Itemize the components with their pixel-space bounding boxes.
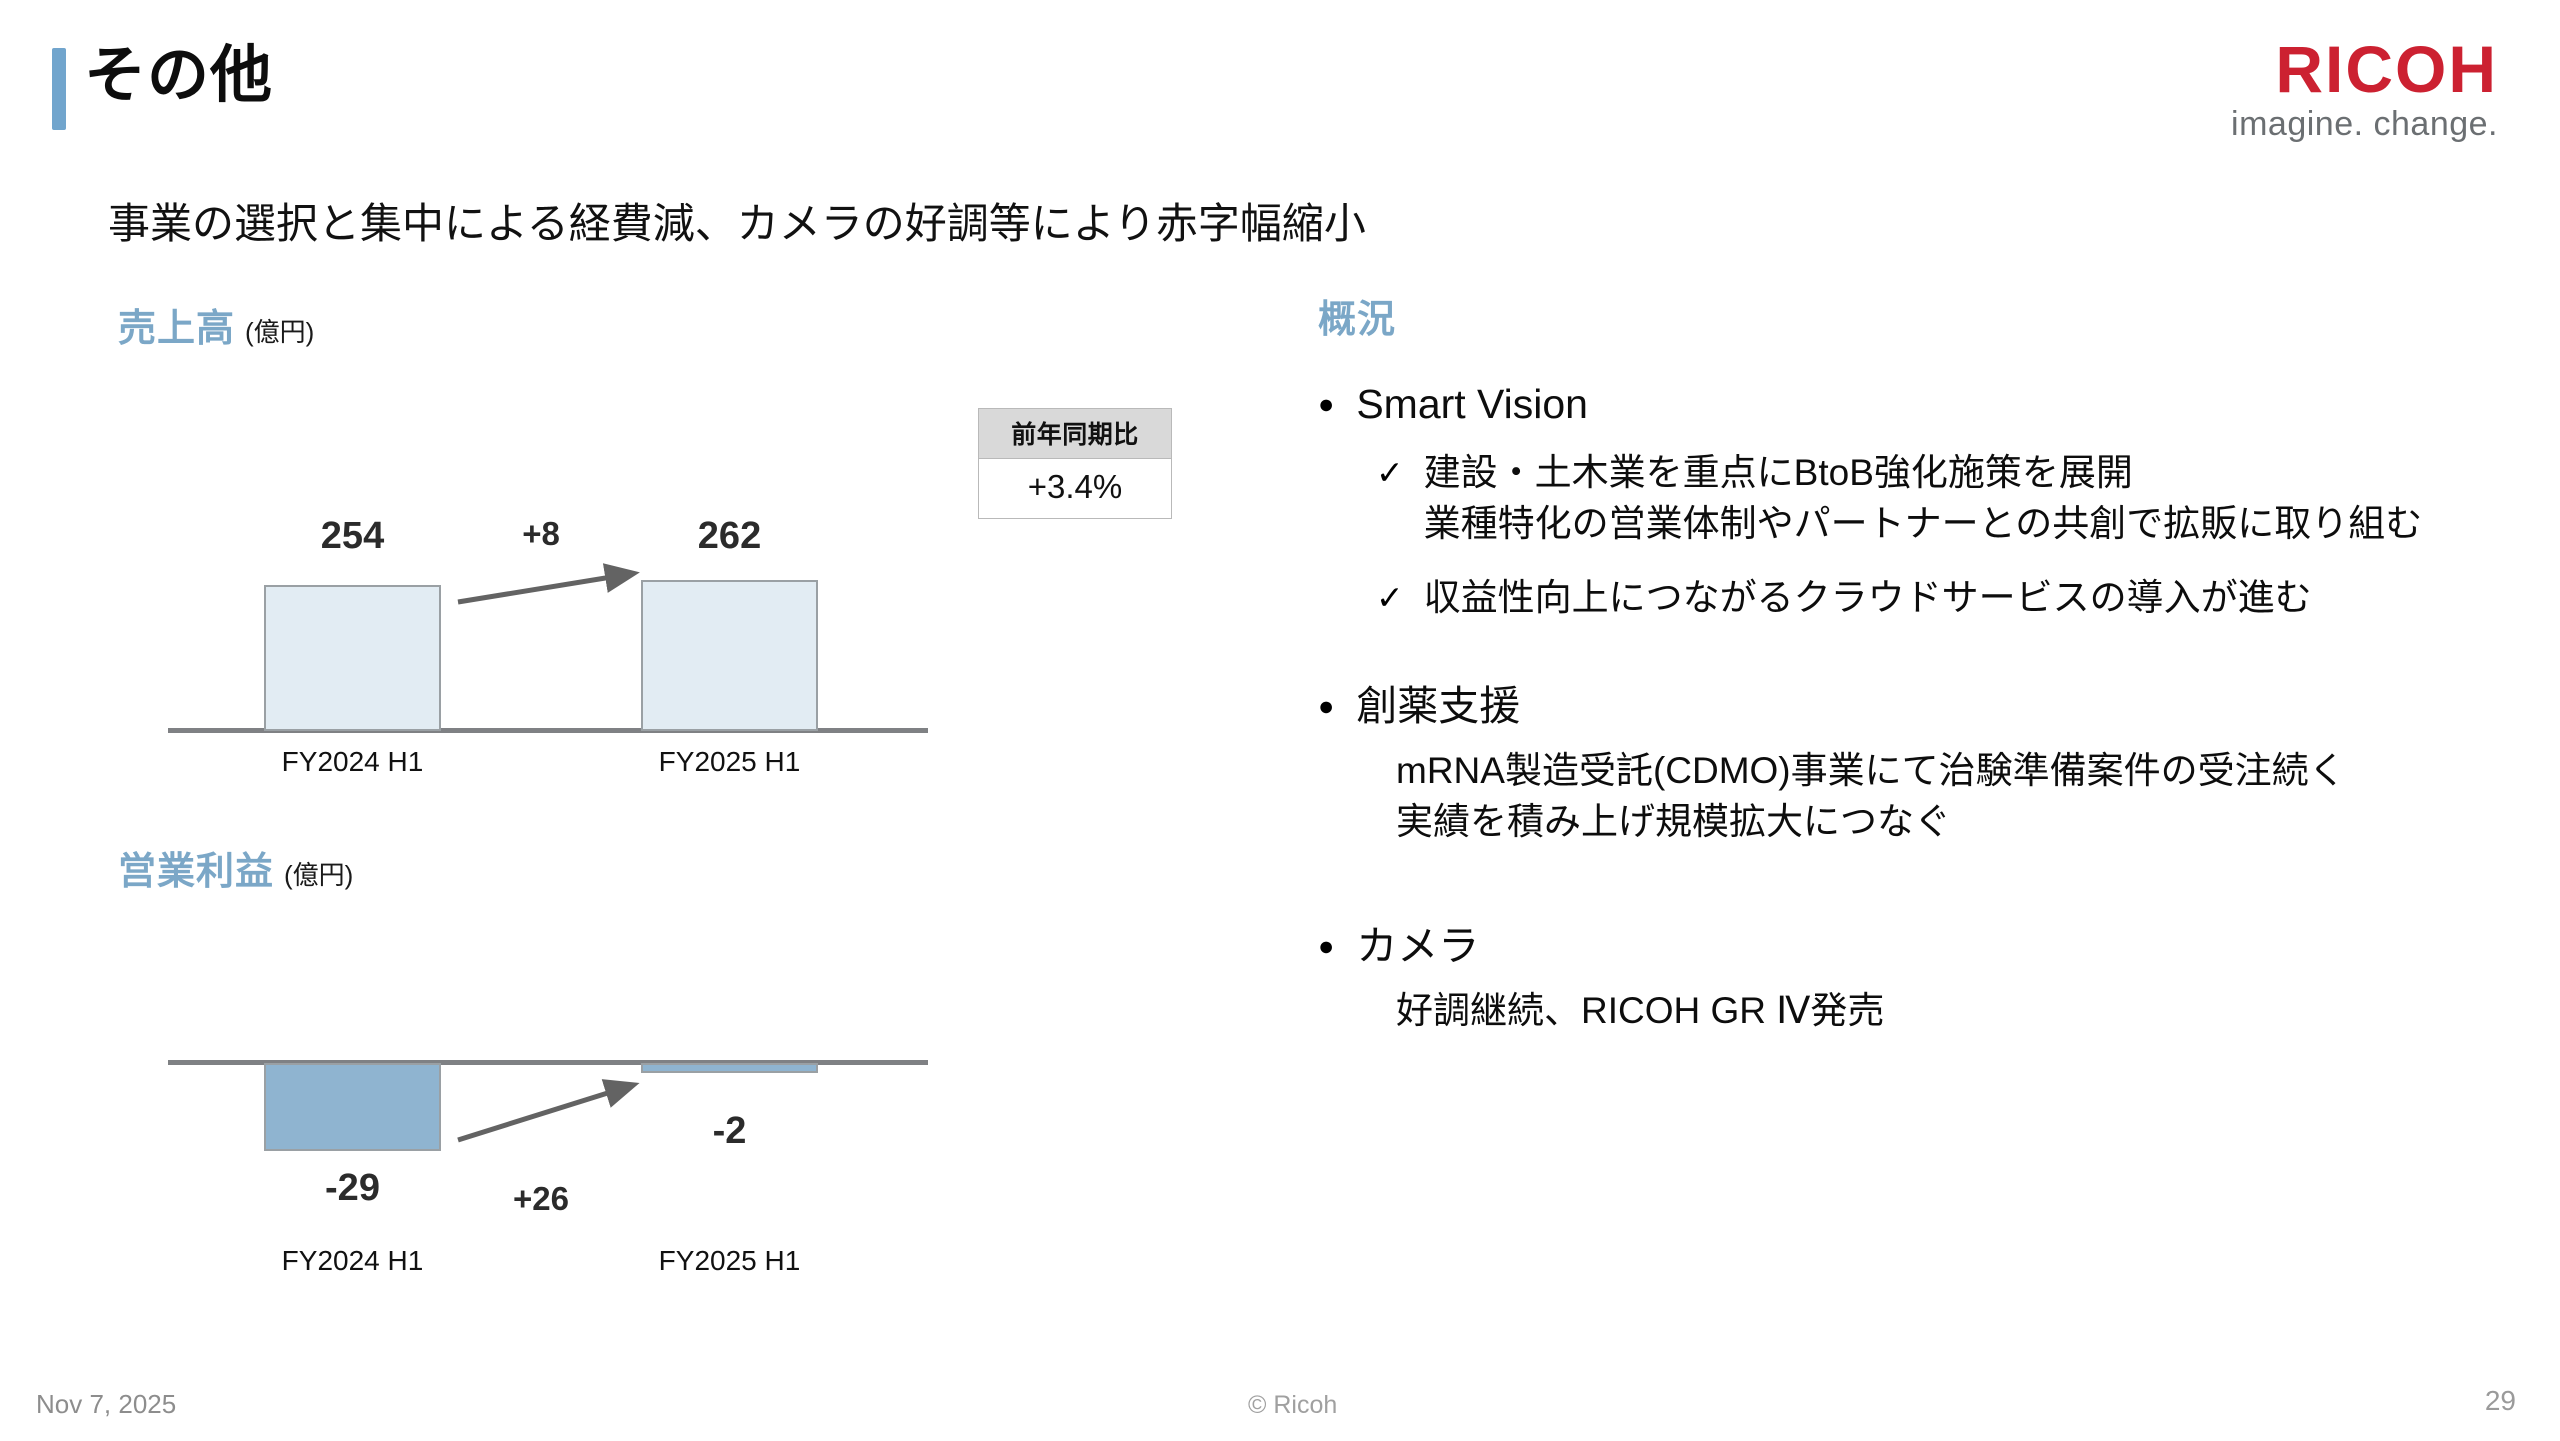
overview-block-title: Smart Vision (1356, 378, 1588, 430)
overview-heading: 概況 (1318, 288, 1396, 343)
revenue-bar-fy2025 (641, 580, 818, 731)
revenue-chart-heading: 売上高(億円) (118, 297, 314, 352)
check-mark-icon: ✓ (1376, 573, 1404, 614)
bullet-dot-icon: ● (1318, 920, 1334, 960)
revenue-heading-unit: (億円) (245, 317, 314, 347)
overview-subitem: mRNA製造受託(CDMO)事業にて治験準備案件の受注続く 実績を積み上げ規模拡… (1318, 746, 2560, 847)
overview-block-title-row: ● Smart Vision (1318, 378, 2560, 430)
slide-footer: Nov 7, 2025 © Ricoh 29 (0, 1371, 2560, 1441)
overview-subitem-line: 収益性向上につながるクラウドサービスの導入が進む (1424, 577, 2312, 618)
overview-subitem-text: 建設・土木業を重点にBtoB強化施策を展開 業種特化の営業体制やパートナーとの共… (1424, 448, 2423, 549)
overview-subitem-line: 業種特化の営業体制やパートナーとの共創で拡販に取り組む (1424, 503, 2423, 544)
overview-block-camera: ● カメラ 好調継続、RICOH GR Ⅳ発売 (1318, 920, 2560, 1037)
overview-subitem-text: mRNA製造受託(CDMO)事業にて治験準備案件の受注続く 実績を積み上げ規模拡… (1396, 746, 2346, 847)
revenue-value-fy2025: 262 (641, 515, 818, 558)
op-bar-fy2025 (641, 1063, 818, 1073)
overview-subitem: ✓ 収益性向上につながるクラウドサービスの導入が進む (1318, 573, 2560, 623)
yoy-box-header: 前年同期比 (979, 409, 1171, 459)
ricoh-wordmark: RICOH (2231, 38, 2498, 101)
overview-block-title: カメラ (1356, 920, 1479, 972)
op-heading-unit: (億円) (284, 860, 353, 890)
footer-date: Nov 7, 2025 (36, 1389, 176, 1420)
op-category-fy2024: FY2024 H1 (244, 1245, 461, 1277)
overview-subitem-line: mRNA製造受託(CDMO)事業にて治験準備案件の受注続く (1396, 750, 2346, 791)
overview-subitem-line: 建設・土木業を重点にBtoB強化施策を展開 (1424, 452, 2133, 493)
revenue-trend-arrow (454, 560, 654, 610)
overview-subitem-line: 好調継続、RICOH GR Ⅳ発売 (1396, 990, 1884, 1031)
slide-root: その他 事業の選択と集中による経費減、カメラの好調等により赤字幅縮小 RICOH… (0, 0, 2560, 1441)
revenue-category-fy2024: FY2024 H1 (244, 746, 461, 778)
footer-copyright: © Ricoh (1248, 1391, 1337, 1420)
op-delta-label: +26 (451, 1180, 631, 1218)
revenue-value-fy2024: 254 (264, 515, 441, 558)
footer-page-number: 29 (2485, 1385, 2516, 1417)
operating-profit-chart-heading: 営業利益(億円) (118, 840, 353, 895)
ricoh-logo: RICOH imagine. change. (2231, 38, 2498, 141)
overview-subitem-text: 好調継続、RICOH GR Ⅳ発売 (1396, 986, 1884, 1036)
op-heading-label: 営業利益 (118, 851, 274, 893)
op-trend-arrow (454, 1072, 654, 1152)
check-mark-icon: ✓ (1376, 448, 1404, 489)
overview-subitem: ✓ 建設・土木業を重点にBtoB強化施策を展開 業種特化の営業体制やパートナーと… (1318, 448, 2560, 549)
overview-block-smart-vision: ● Smart Vision ✓ 建設・土木業を重点にBtoB強化施策を展開 業… (1318, 378, 2560, 623)
op-bar-fy2024 (264, 1063, 441, 1151)
yoy-comparison-box: 前年同期比 +3.4% (978, 408, 1172, 519)
overview-block-title-row: ● カメラ (1318, 920, 2560, 972)
bullet-dot-icon: ● (1318, 680, 1334, 720)
overview-subitem-line: 実績を積み上げ規模拡大につなぐ (1396, 801, 1951, 842)
op-value-fy2025: -2 (641, 1110, 818, 1153)
overview-subitem-text: 収益性向上につながるクラウドサービスの導入が進む (1424, 573, 2312, 623)
bullet-dot-icon: ● (1318, 378, 1334, 418)
op-value-fy2024: -29 (264, 1167, 441, 1210)
revenue-category-fy2025: FY2025 H1 (621, 746, 838, 778)
overview-subitem: 好調継続、RICOH GR Ⅳ発売 (1318, 986, 2560, 1036)
overview-block-title: 創薬支援 (1356, 680, 1520, 732)
charts-column: 売上高(億円) 254 262 +8 FY (0, 0, 1290, 1441)
operating-profit-bar-chart: -29 -2 +26 FY2024 H1 FY2025 H1 (168, 1050, 928, 1350)
yoy-box-value: +3.4% (979, 459, 1171, 518)
overview-block-drug-discovery: ● 創薬支援 mRNA製造受託(CDMO)事業にて治験準備案件の受注続く 実績を… (1318, 680, 2560, 847)
revenue-bar-chart: 254 262 +8 FY2024 H1 FY2025 H1 (168, 500, 928, 790)
op-category-fy2025: FY2025 H1 (621, 1245, 838, 1277)
revenue-bar-fy2024 (264, 585, 441, 731)
ricoh-tagline: imagine. change. (2231, 107, 2498, 141)
overview-block-title-row: ● 創薬支援 (1318, 680, 2560, 732)
revenue-delta-label: +8 (451, 515, 631, 553)
revenue-heading-label: 売上高 (118, 308, 235, 350)
